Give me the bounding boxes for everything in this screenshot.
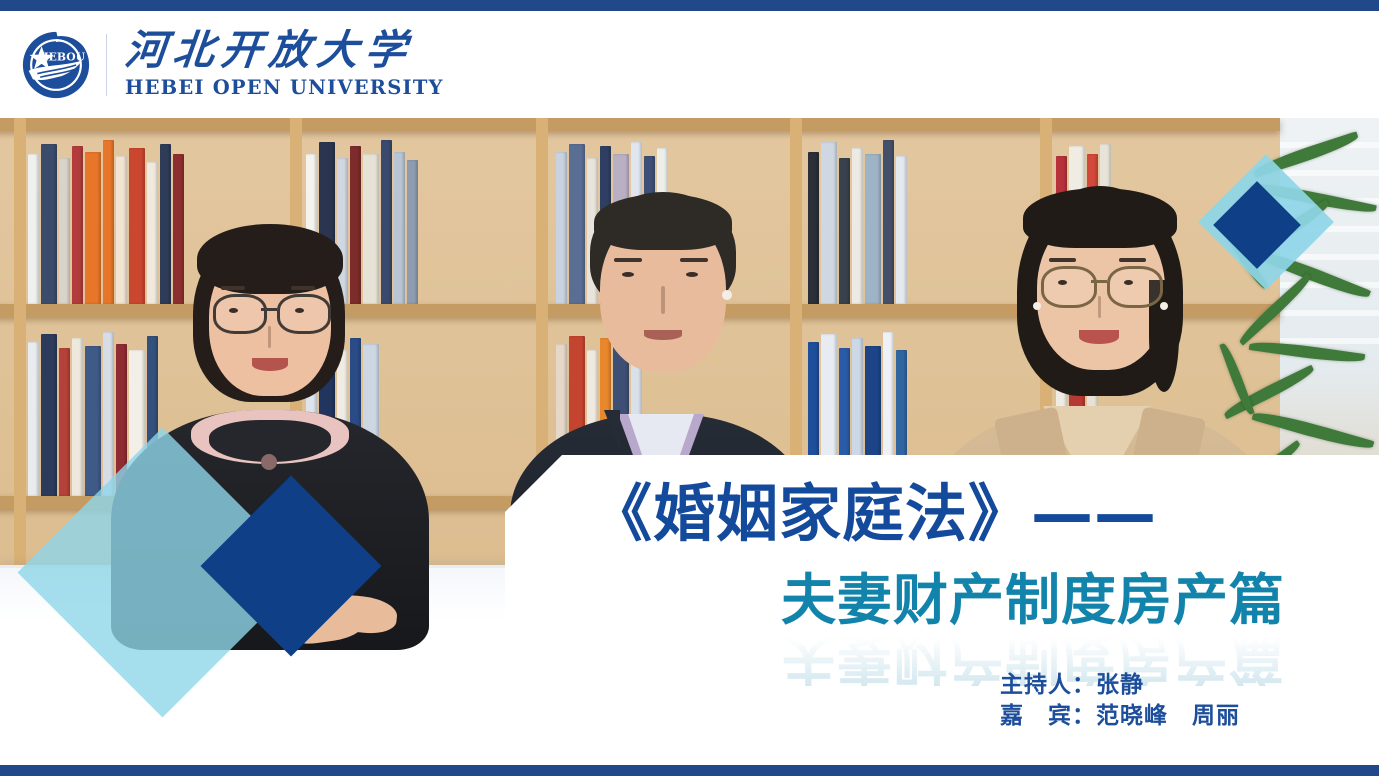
university-name-en: HEBEI OPEN UNIVERSITY bbox=[125, 76, 444, 99]
university-header: HEBOU 河北开放大学 HEBEI OPEN UNIVERSITY bbox=[0, 11, 1379, 118]
university-logo: HEBOU 河北开放大学 HEBEI OPEN UNIVERSITY bbox=[20, 29, 444, 101]
bottom-accent-bar bbox=[0, 765, 1379, 776]
university-name-cn: 河北开放大学 bbox=[123, 30, 446, 72]
credits-block: 主持人：张静 嘉 宾：范晓峰 周丽 bbox=[1000, 670, 1240, 732]
top-accent-bar bbox=[0, 0, 1379, 11]
university-name-block: 河北开放大学 HEBEI OPEN UNIVERSITY bbox=[125, 30, 444, 99]
program-subtitle: 夫妻财产制度房产篇 bbox=[781, 573, 1285, 628]
guest-line: 嘉 宾：范晓峰 周丽 bbox=[1000, 701, 1240, 732]
hebou-emblem-icon: HEBOU bbox=[20, 29, 92, 101]
logo-divider bbox=[106, 34, 107, 96]
title-panel: 《婚姻家庭法》—— 夫妻财产制度房产篇 夫妻财产制度房产篇 主持人：张静 嘉 宾… bbox=[505, 455, 1379, 776]
emblem-label: HEBOU bbox=[38, 50, 85, 63]
video-title-card: HEBOU 河北开放大学 HEBEI OPEN UNIVERSITY bbox=[0, 0, 1379, 776]
host-line: 主持人：张静 bbox=[1000, 670, 1240, 701]
program-title: 《婚姻家庭法》—— bbox=[590, 483, 1157, 545]
